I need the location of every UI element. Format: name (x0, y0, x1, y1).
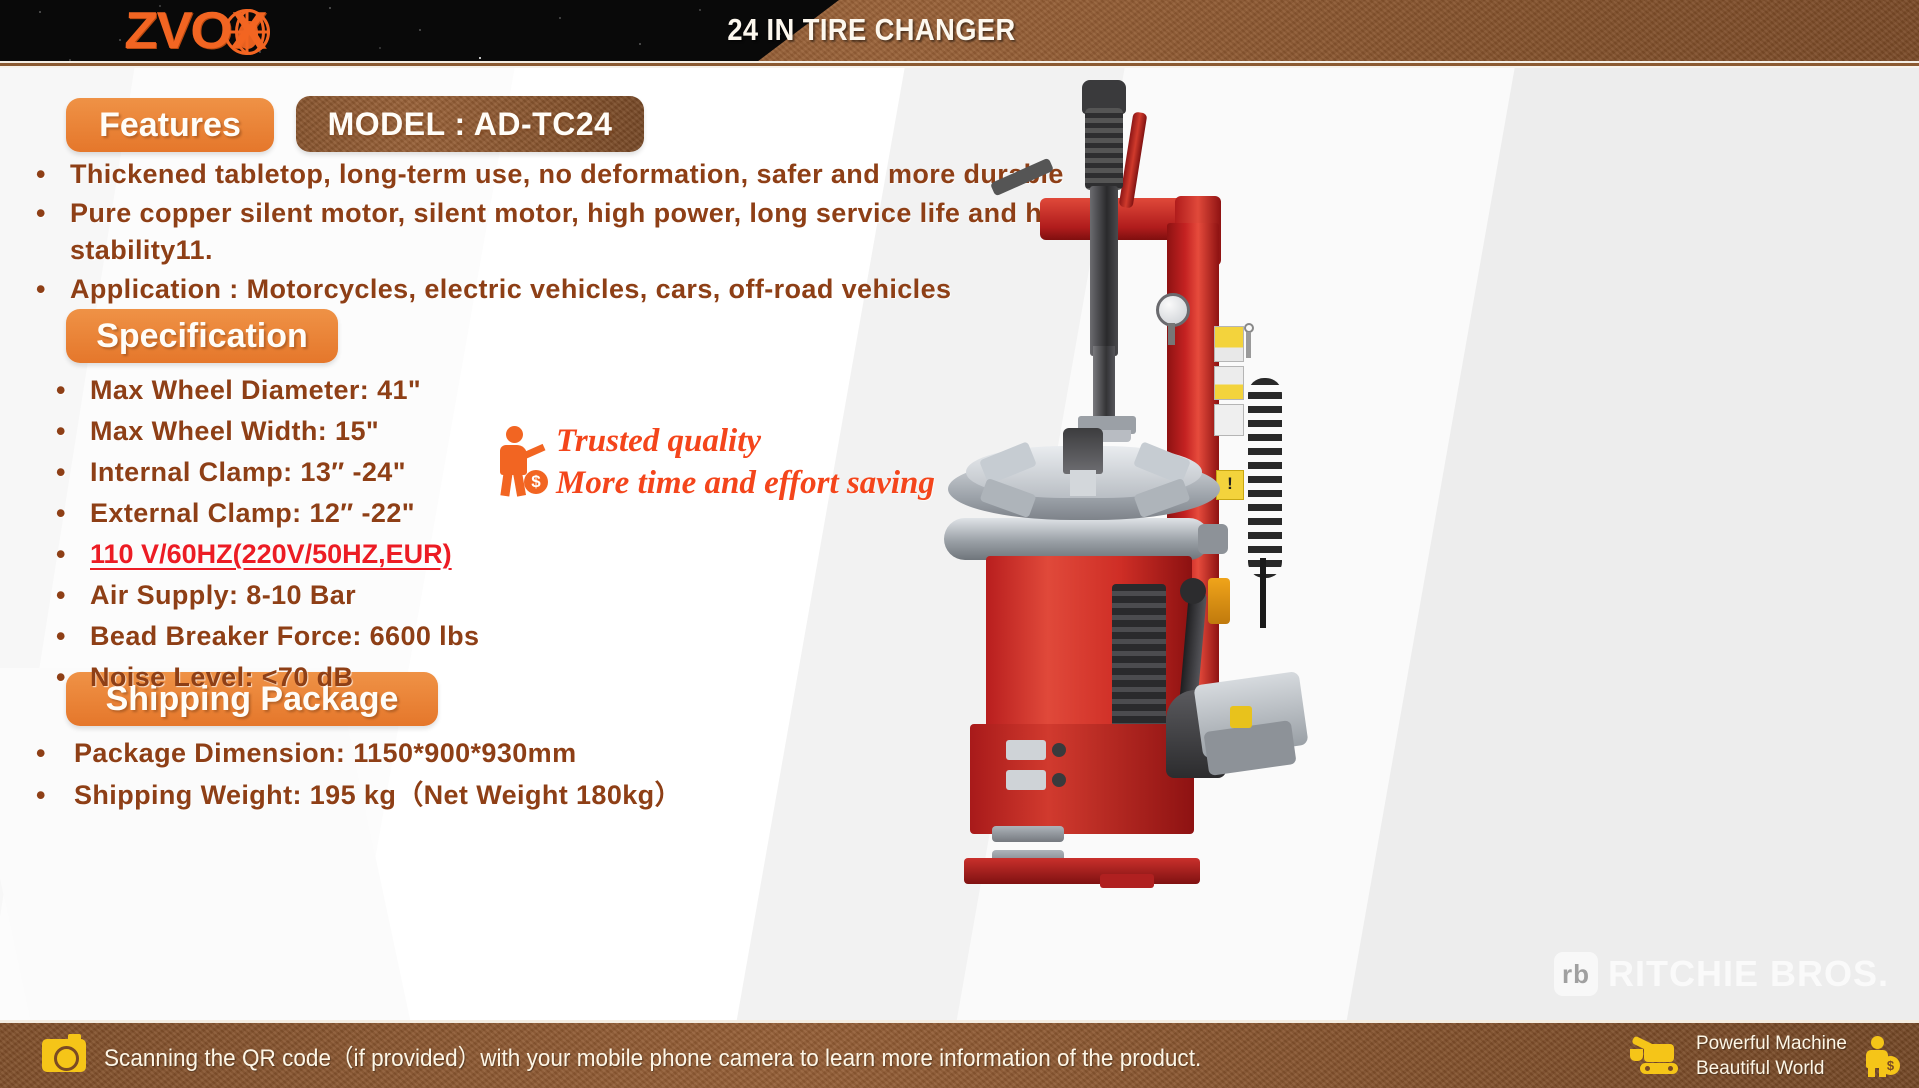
coin-icon: $ (524, 470, 548, 494)
specification-item-label: Noise Level: <70 dB (90, 657, 576, 698)
specification-item-label: Max Wheel Diameter: 41" (90, 370, 576, 411)
specification-item: •Noise Level: <70 dB (56, 657, 576, 698)
control-indicator-2 (1052, 773, 1066, 787)
trusted-quality-tagline: $ Trusted quality More time and effort s… (496, 420, 935, 504)
mount-column (1090, 186, 1118, 356)
bullet-icon: • (56, 493, 90, 534)
pressure-gauge-icon (1156, 293, 1190, 327)
bullet-icon: • (56, 370, 90, 411)
machine-side-lever (990, 158, 1054, 197)
person-leg-left-shape (500, 471, 512, 496)
control-button-2 (1006, 770, 1046, 790)
specification-item: •Max Wheel Diameter: 41" (56, 370, 576, 411)
footer-slogan-line-1: Powerful Machine (1696, 1033, 1847, 1054)
features-heading-badge: Features (66, 98, 274, 152)
tagline-text-block: Trusted quality More time and effort sav… (556, 420, 935, 504)
header-divider-rule (0, 61, 1919, 68)
footer-person-leg-left-shape (1868, 1066, 1875, 1077)
person-with-money-icon: $ (496, 426, 548, 498)
footer-slogan: Powerful Machine Beautiful World (1696, 1031, 1847, 1081)
mount-spring-grip (1085, 108, 1123, 190)
person-arm-shape (523, 444, 546, 459)
specification-item-label: Bead Breaker Force: 6600 lbs (90, 616, 576, 657)
coiled-air-hose (1248, 378, 1282, 578)
machine-base-plate (964, 858, 1200, 884)
specification-item: •110 V/60HZ(220V/50HZ,EUR) (56, 534, 576, 575)
footer-coin-icon: $ (1881, 1056, 1900, 1075)
air-hose-line (1260, 558, 1266, 628)
turntable-center-hub (1070, 470, 1096, 496)
ritchie-bros-logo-icon: rb (1554, 952, 1598, 996)
lubricator-unit (1208, 578, 1230, 624)
cylinder-end-cap (1198, 524, 1228, 554)
excavator-tracks-shape (1640, 1063, 1678, 1074)
bead-breaker-pivot (1180, 578, 1206, 604)
footer-brand-block: Powerful Machine Beautiful World $ (1632, 1031, 1919, 1081)
warning-label-3 (1214, 404, 1244, 436)
footer-slogan-line-2: Beautiful World (1696, 1058, 1825, 1079)
control-button-1 (1006, 740, 1046, 760)
foot-pedal-1 (992, 826, 1064, 842)
shipping-item-label: Package Dimension: 1150*900*930mm (74, 732, 736, 774)
shipping-package-list: •Package Dimension: 1150*900*930mm•Shipp… (36, 732, 736, 816)
page-footer: Scanning the QR code（if provided）with yo… (0, 1020, 1919, 1088)
control-indicator-1 (1052, 743, 1066, 757)
specification-heading-badge: Specification (66, 309, 338, 363)
page-header: ZVOX 24 IN TIRE CHANGER (0, 0, 1919, 68)
shipping-item: •Package Dimension: 1150*900*930mm (36, 732, 736, 774)
model-number-badge: MODEL : AD-TC24 (296, 96, 644, 152)
bullet-icon: • (36, 156, 70, 193)
shipping-item: •Shipping Weight: 195 kg（Net Weight 180k… (36, 774, 736, 816)
excavator-icon (1632, 1036, 1686, 1076)
machine-base-foot (1100, 874, 1154, 888)
hazard-warning-label (1216, 470, 1244, 500)
specification-item-label: 110 V/60HZ(220V/50HZ,EUR) (90, 534, 576, 575)
specification-item: •Bead Breaker Force: 6600 lbs (56, 616, 576, 657)
excavator-bucket-shape (1630, 1049, 1643, 1061)
bullet-icon: • (36, 774, 74, 816)
tagline-line-2: More time and effort saving (556, 462, 935, 504)
bullet-icon: • (56, 411, 90, 452)
content-stage: Features MODEL : AD-TC24 Specification S… (0, 68, 1919, 1020)
bullet-icon: • (36, 732, 74, 774)
bullet-icon: • (56, 616, 90, 657)
machine-lower-cabinet (970, 724, 1194, 834)
shipping-item-label: Shipping Weight: 195 kg（Net Weight 180kg… (74, 774, 736, 816)
person-head-shape (506, 426, 523, 443)
footer-person-head-shape (1871, 1036, 1884, 1049)
bullet-icon: • (56, 534, 90, 575)
bullet-icon: • (56, 575, 90, 616)
camera-icon (42, 1039, 86, 1072)
page-title: 24 IN TIRE CHANGER (115, 0, 1804, 60)
footer-scan-instruction: Scanning the QR code（if provided）with yo… (104, 1038, 1201, 1073)
ritchie-bros-watermark-text: RITCHIE BROS. (1608, 953, 1889, 995)
product-image-tire-changer (930, 78, 1430, 908)
specification-item: •Air Supply: 8-10 Bar (56, 575, 576, 616)
person-with-money-footer-icon: $ (1857, 1034, 1901, 1078)
warning-label-2 (1214, 366, 1244, 400)
key-shape (1246, 332, 1251, 358)
bullet-icon: • (36, 271, 70, 308)
bullet-icon: • (36, 195, 70, 232)
bullet-icon: • (56, 452, 90, 493)
ritchie-bros-watermark: rb RITCHIE BROS. (1554, 952, 1889, 996)
mount-column-lower (1093, 346, 1115, 421)
turntable-center-cone (1063, 428, 1103, 474)
tagline-line-1: Trusted quality (556, 420, 935, 462)
warning-label-1 (1214, 326, 1244, 362)
excavator-body-shape (1644, 1044, 1674, 1062)
horizontal-cylinder (944, 518, 1210, 560)
person-body-shape (500, 445, 527, 475)
bead-breaker-warning-sticker (1230, 706, 1252, 728)
pressure-gauge-stem (1168, 323, 1175, 345)
specification-item-label: Air Supply: 8-10 Bar (90, 575, 576, 616)
bullet-icon: • (56, 657, 90, 698)
